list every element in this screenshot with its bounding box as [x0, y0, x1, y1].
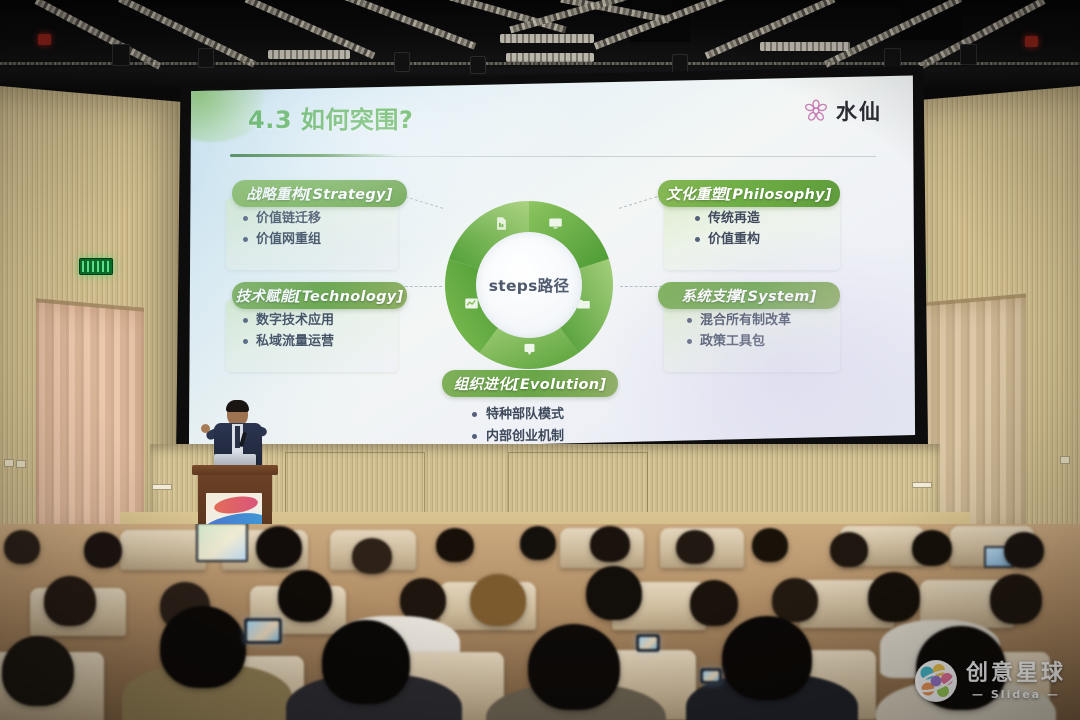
presentation-slide: 4.3 如何突围? 水仙 — [186, 74, 918, 454]
audience-head — [436, 528, 474, 562]
pill-evolution[interactable]: 组织进化[Evolution] — [442, 370, 618, 397]
title-underline — [230, 154, 398, 157]
audience-head — [990, 574, 1042, 624]
audience-head — [84, 532, 122, 568]
audience-head-front — [2, 636, 74, 706]
wall-panel — [285, 452, 425, 516]
wall-vent — [152, 484, 172, 490]
monitor-icon — [548, 216, 563, 231]
audience-head — [586, 566, 642, 620]
slide-title: 4.3 如何突围? — [248, 100, 413, 135]
exit-sign-left — [79, 258, 113, 275]
seat — [120, 530, 206, 570]
watermark: 创意星球 — Slidea — — [915, 660, 1066, 702]
wall-socket — [16, 460, 26, 468]
list-item: 私域流量运营 — [256, 331, 398, 352]
brand-logo: 水仙 — [803, 96, 882, 126]
steps-donut-chart: steps路径 — [436, 192, 622, 378]
stage-light — [1025, 36, 1038, 47]
audience-head — [44, 576, 96, 626]
stage-light — [198, 48, 214, 68]
wall-socket — [1060, 456, 1070, 464]
list-item: 价值链迁移 — [256, 208, 398, 229]
audience-phone — [700, 668, 722, 684]
donut-center-label-wrap: steps路径 — [476, 232, 582, 338]
list-item: 混合所有制改革 — [700, 310, 840, 331]
audience-head — [256, 526, 302, 568]
card-strategy: 价值链迁移 价值网重组 — [226, 198, 398, 270]
audience-head — [690, 580, 738, 626]
watermark-title: 创意星球 — [966, 663, 1066, 685]
stage-light-bar — [506, 53, 594, 62]
audience-tablet — [196, 524, 248, 562]
wall-panel — [508, 452, 648, 516]
audience-head — [752, 528, 788, 562]
pill-technology[interactable]: 技术赋能[Technology] — [232, 282, 407, 309]
audience-head — [912, 530, 952, 566]
list-item: 政策工具包 — [700, 331, 840, 352]
audience-head-front — [722, 616, 812, 700]
pill-philosophy[interactable]: 文化重塑[Philosophy] — [658, 180, 840, 207]
audience-head — [278, 570, 332, 622]
stage-light-bar — [500, 34, 594, 43]
audience-head — [4, 530, 40, 564]
flower-icon — [803, 98, 829, 124]
bullet-list-evolution: 特种部队模式 内部创业机制 — [472, 404, 632, 448]
watermark-subtitle: — Slidea — — [972, 689, 1060, 700]
audience-head — [830, 532, 868, 567]
list-item: 价值重构 — [708, 229, 840, 250]
audience-head-front — [528, 624, 620, 710]
card-system: 混合所有制改革 政策工具包 — [664, 300, 840, 372]
stage-light-bar — [760, 42, 850, 51]
truss-beam — [334, 0, 477, 50]
audience-phone — [244, 618, 282, 644]
stage-light — [112, 44, 130, 66]
speaker-hand — [201, 424, 210, 433]
list-item: 价值网重组 — [256, 229, 398, 250]
card-technology: 数字技术应用 私域流量运营 — [226, 300, 398, 372]
audience-head — [470, 574, 526, 626]
wall-vent — [912, 482, 932, 488]
badge-icon — [522, 342, 537, 357]
audience-head — [352, 538, 392, 574]
list-item: 特种部队模式 — [472, 404, 632, 426]
wall-socket — [4, 459, 14, 467]
projection-screen[interactable]: 4.3 如何突围? 水仙 — [186, 74, 918, 454]
stage-light — [470, 56, 486, 74]
planet-icon — [915, 660, 957, 702]
pill-system[interactable]: 系统支撑[System] — [658, 282, 840, 309]
audience-head — [1004, 532, 1044, 568]
list-item: 数字技术应用 — [256, 310, 398, 331]
stage-light — [884, 48, 901, 69]
connector-line — [620, 286, 662, 287]
audience-head-front — [322, 620, 410, 704]
audience-head — [868, 572, 920, 622]
watermark-text: 创意星球 — Slidea — — [966, 663, 1066, 700]
stage-light — [38, 34, 51, 45]
list-item: 传统再造 — [708, 208, 840, 229]
truss-horizontal — [0, 62, 1080, 65]
door-curtain-left — [36, 298, 144, 539]
card-philosophy: 传统再造 价值重构 — [664, 198, 840, 270]
screenshot-root: 4.3 如何突围? 水仙 — [0, 0, 1080, 720]
speaker-hair — [226, 400, 249, 412]
podium-top — [192, 465, 278, 475]
audience-phone — [636, 634, 660, 652]
stage-light — [672, 54, 688, 74]
stage-light — [960, 44, 977, 65]
audience-head — [520, 526, 556, 560]
audience-head — [772, 578, 818, 622]
stage-light-bar — [268, 50, 350, 59]
brand-name: 水仙 — [836, 96, 882, 126]
stage-light — [394, 52, 410, 72]
audience-head-front — [160, 606, 246, 688]
pill-strategy[interactable]: 战略重构[Strategy] — [232, 180, 407, 207]
connector-line — [619, 196, 658, 209]
audience-head — [676, 530, 714, 564]
document-icon — [494, 216, 509, 231]
donut-center-label: steps路径 — [489, 274, 570, 296]
audience-head — [590, 526, 630, 562]
